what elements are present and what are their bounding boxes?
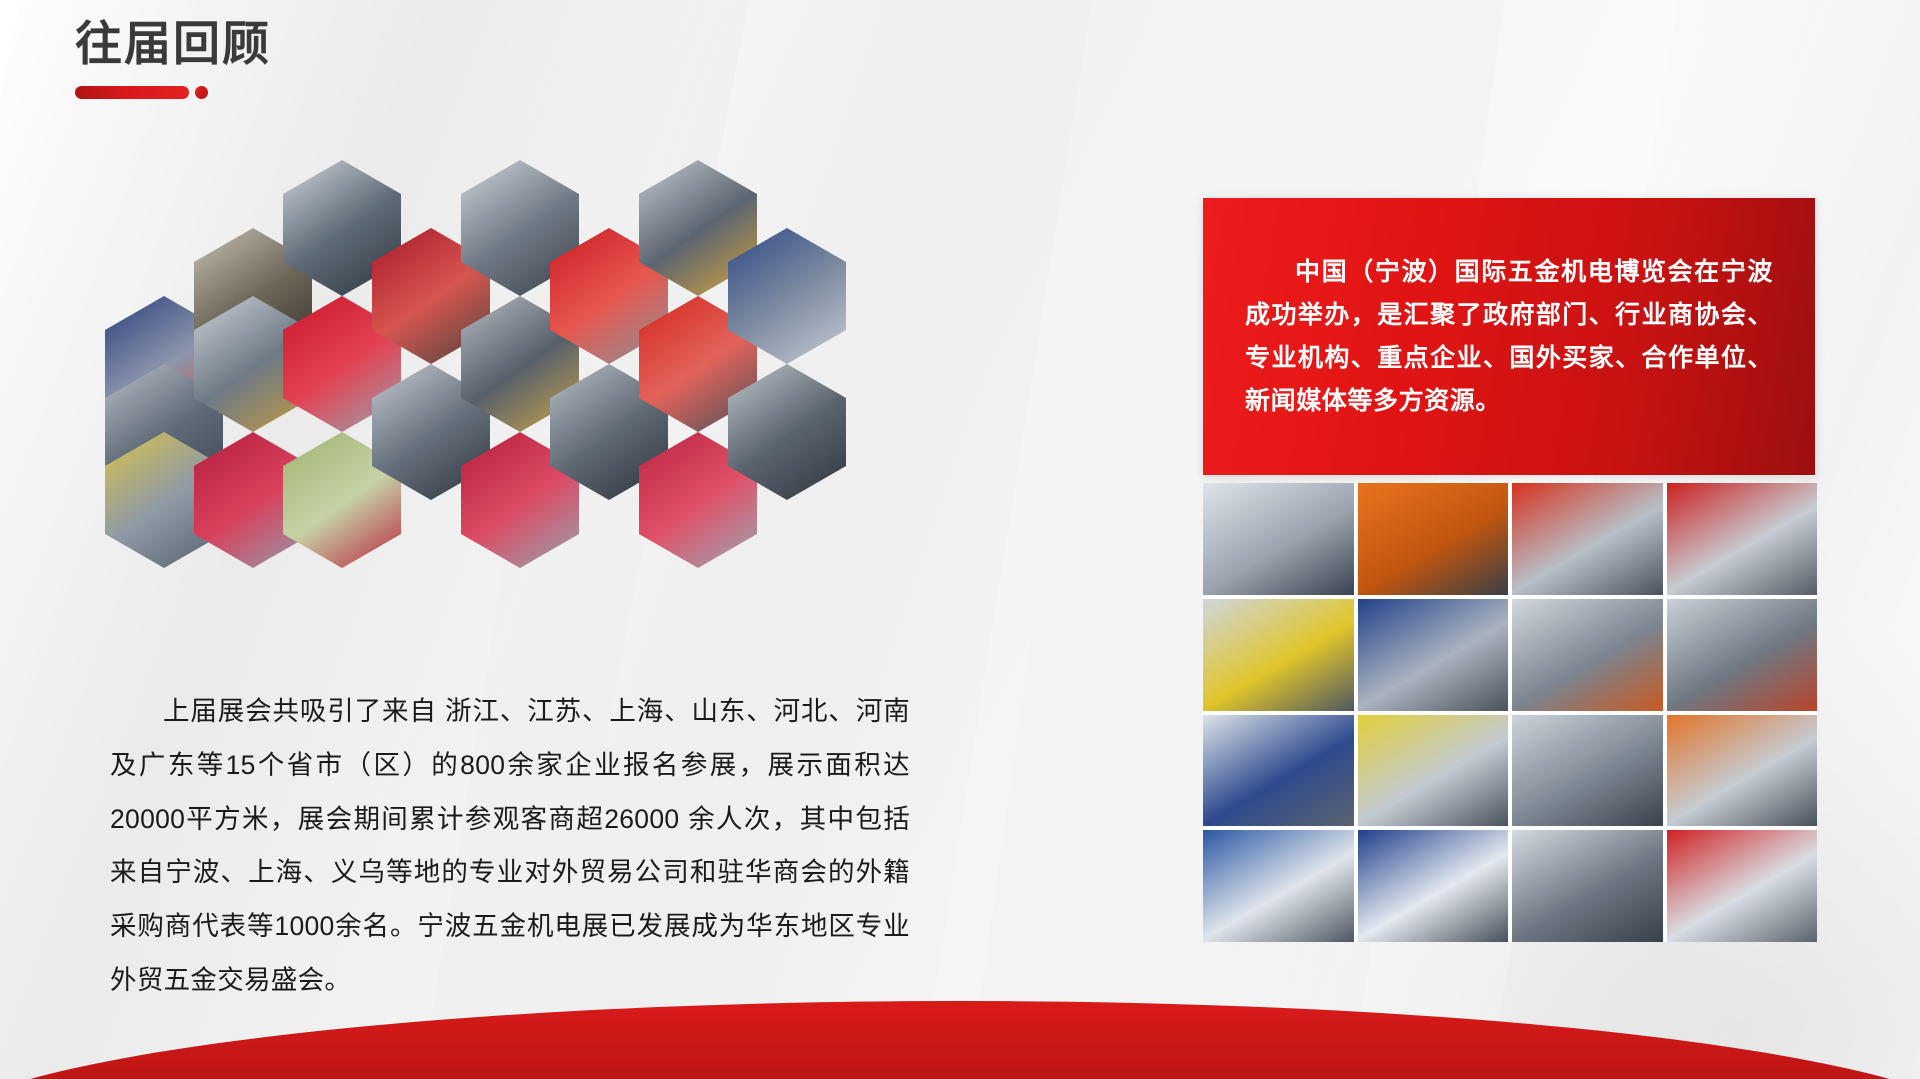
- statement-callout-box: 中国（宁波）国际五金机电博览会在宁波成功举办，是汇聚了政府部门、行业商协会、专业…: [1203, 198, 1815, 475]
- body-paragraph: 上届展会共吸引了来自 浙江、江苏、上海、山东、河北、河南及广东等15个省市（区）…: [110, 685, 910, 1008]
- photo-exhibition-hall-aerial: [1512, 715, 1663, 827]
- photo-blue-logo-booth: [1358, 830, 1509, 942]
- title-underline: [75, 82, 271, 102]
- photo-visitors-red-carpet: [1667, 599, 1818, 711]
- photo-wide-aisle-crowd: [1512, 599, 1663, 711]
- photo-orange-aisle-aerial: [1667, 715, 1818, 827]
- photo-overseas-buyers-crowd: [1667, 483, 1818, 595]
- photo-red-stage-audience: [1667, 830, 1818, 942]
- photo-stand-discussion-yellow: [1203, 599, 1354, 711]
- photo-booth-monitor-demo: [1203, 483, 1354, 595]
- photo-orange-booth-visitors: [1358, 483, 1509, 595]
- photo-booth-a113-products: [1203, 715, 1354, 827]
- section-header: 往届回顾: [75, 18, 271, 102]
- statement-text: 中国（宁波）国际五金机电博览会在宁波成功举办，是汇聚了政府部门、行业商协会、专业…: [1203, 251, 1815, 423]
- photo-yellow-booth-walkway: [1358, 715, 1509, 827]
- photo-suppliers-sign-up-desk: [1512, 483, 1663, 595]
- title-accent-bar: [75, 86, 189, 99]
- hexagon-photo-collage: [105, 160, 935, 530]
- page-title: 往届回顾: [75, 18, 271, 70]
- photo-product-shelf-booth: [1203, 830, 1354, 942]
- exhibition-photo-grid: [1203, 483, 1817, 942]
- photo-booth-visitors-queue: [1512, 830, 1663, 942]
- photo-bag-products-booth: [1358, 599, 1509, 711]
- title-accent-dot: [195, 86, 208, 99]
